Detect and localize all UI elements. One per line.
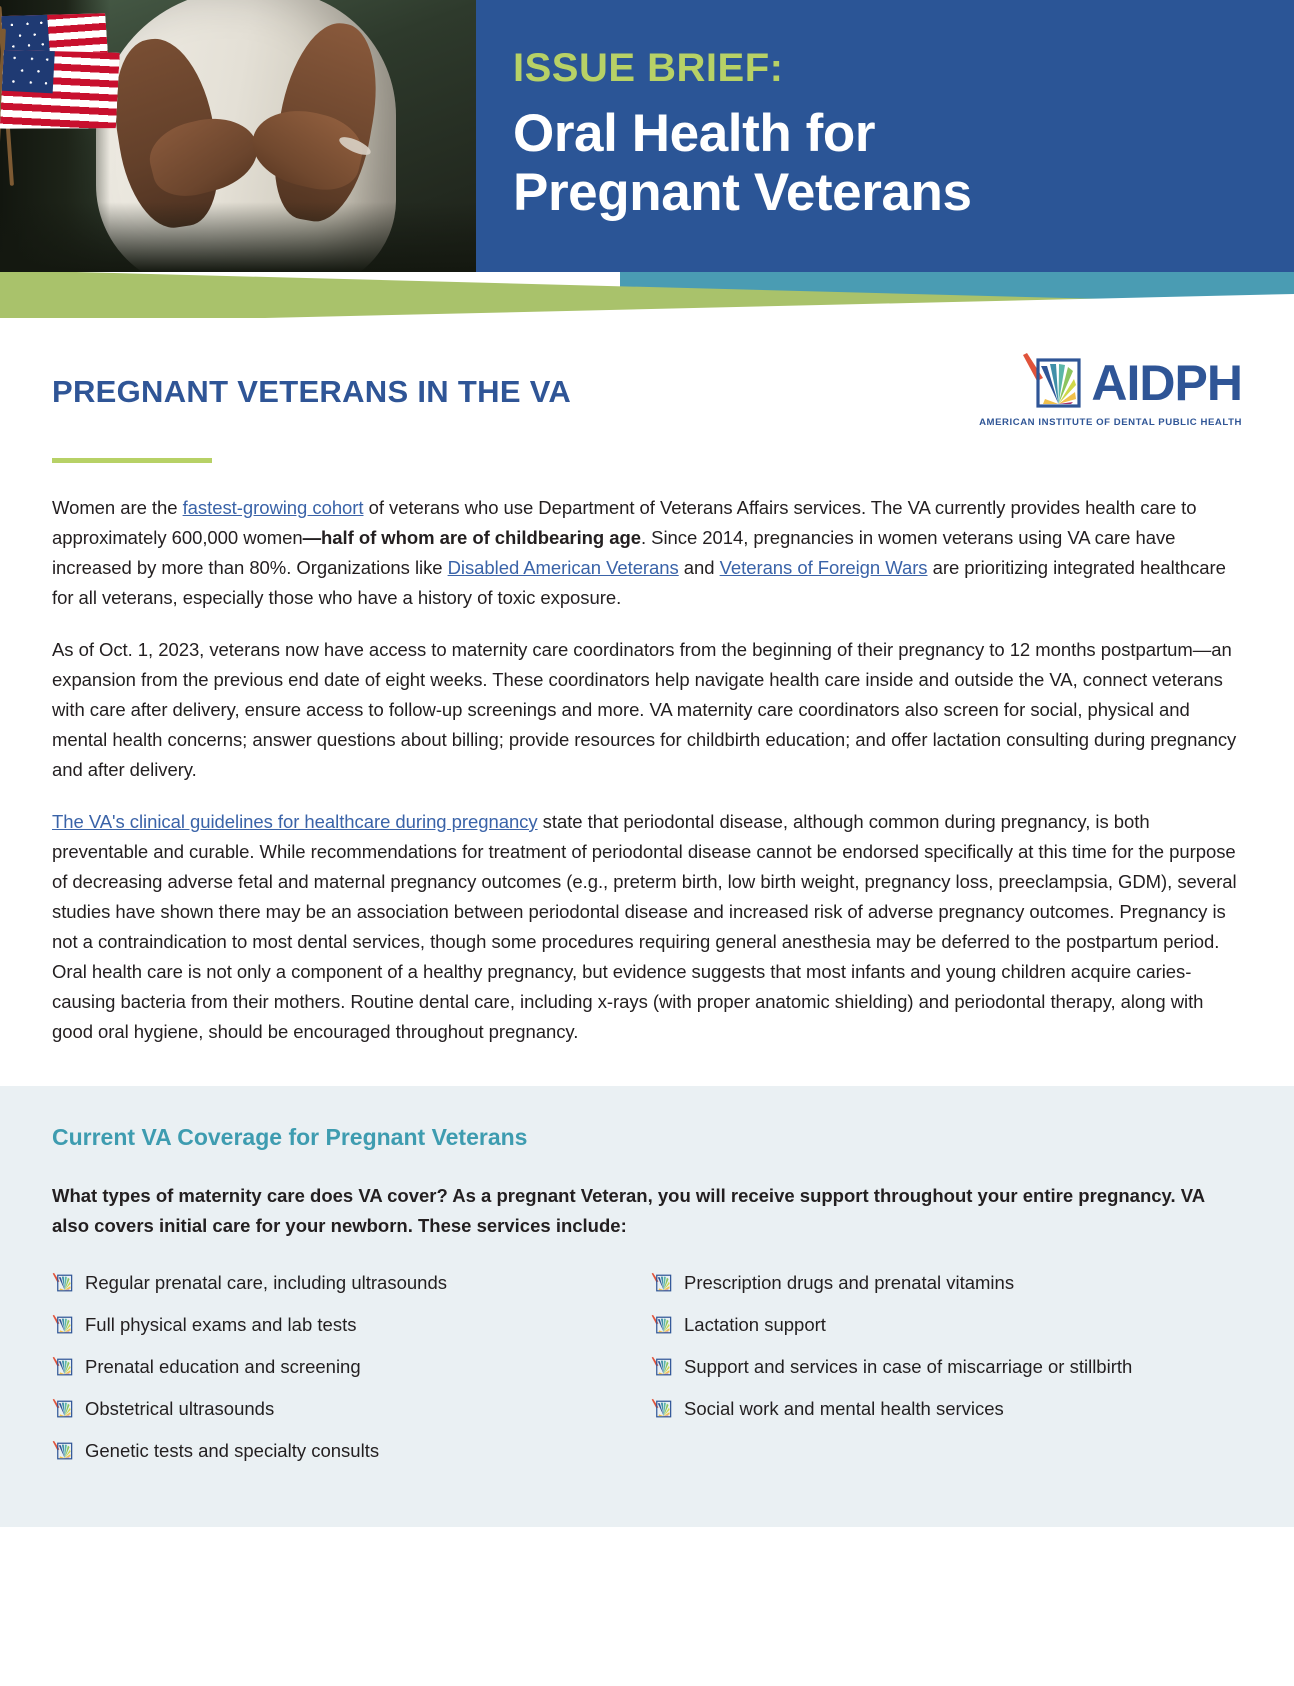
inline-text: Women are the — [52, 497, 183, 518]
aidph-mark-icon — [52, 1440, 73, 1465]
paragraph-2: As of Oct. 1, 2023, veterans now have ac… — [52, 635, 1242, 785]
coverage-panel-title: Current VA Coverage for Pregnant Veteran… — [52, 1124, 1242, 1151]
inline-bold: —half of whom are of childbearing age — [303, 527, 641, 548]
list-item-label: Prescription drugs and prenatal vitamins — [684, 1271, 1014, 1295]
aidph-tagline: AMERICAN INSTITUTE OF DENTAL PUBLIC HEAL… — [979, 417, 1242, 428]
aidph-mark-icon — [52, 1356, 73, 1381]
inline-link[interactable]: fastest-growing cohort — [183, 497, 364, 518]
aidph-logo: AIDPH AMERICAN INSTITUTE OF DENTAL PUBLI… — [979, 352, 1242, 428]
aidph-mark-icon — [1021, 352, 1083, 413]
list-item-label: Social work and mental health services — [684, 1397, 1004, 1421]
inline-text: and — [679, 557, 720, 578]
aidph-mark-icon — [52, 1398, 73, 1423]
header-photo — [0, 0, 476, 272]
list-item: Lactation support — [651, 1313, 1242, 1339]
paragraph-1: Women are the fastest-growing cohort of … — [52, 493, 1242, 613]
page-header: ISSUE BRIEF: Oral Health for Pregnant Ve… — [0, 0, 1294, 272]
list-item: Prenatal education and screening — [52, 1355, 643, 1381]
list-item: Social work and mental health services — [651, 1397, 1242, 1423]
usa-flag-front — [0, 28, 126, 225]
list-item: Prescription drugs and prenatal vitamins — [651, 1271, 1242, 1297]
list-item: Obstetrical ultrasounds — [52, 1397, 643, 1423]
aidph-mark-icon — [651, 1314, 672, 1339]
aidph-mark-icon — [651, 1398, 672, 1423]
aidph-mark-icon — [651, 1272, 672, 1297]
list-item-label: Full physical exams and lab tests — [85, 1313, 356, 1337]
inline-link[interactable]: The VA's clinical guidelines for healthc… — [52, 811, 538, 832]
inline-link[interactable]: Disabled American Veterans — [448, 557, 679, 578]
wave-divider — [0, 272, 1294, 320]
header-text-block: ISSUE BRIEF: Oral Health for Pregnant Ve… — [513, 48, 1253, 223]
page-section-title: PREGNANT VETERANS IN THE VA — [52, 374, 571, 410]
paragraph-3: The VA's clinical guidelines for healthc… — [52, 807, 1242, 1047]
section-header-row: PREGNANT VETERANS IN THE VA — [52, 320, 1242, 428]
list-item-label: Genetic tests and specialty consults — [85, 1439, 379, 1463]
aidph-logo-main: AIDPH — [1021, 352, 1242, 413]
list-item-label: Obstetrical ultrasounds — [85, 1397, 274, 1421]
green-rule — [52, 458, 212, 463]
coverage-panel-intro: What types of maternity care does VA cov… — [52, 1181, 1242, 1241]
body-paragraphs: Women are the fastest-growing cohort of … — [52, 493, 1242, 1046]
main-content: PREGNANT VETERANS IN THE VA — [0, 320, 1294, 1046]
inline-text: As of Oct. 1, 2023, veterans now have ac… — [52, 639, 1236, 780]
flag-cloth — [0, 47, 120, 135]
inline-link[interactable]: Veterans of Foreign Wars — [720, 557, 928, 578]
list-item: Full physical exams and lab tests — [52, 1313, 643, 1339]
list-item: Support and services in case of miscarri… — [651, 1355, 1242, 1381]
coverage-bullet-columns: Regular prenatal care, including ultraso… — [52, 1271, 1242, 1481]
list-item: Regular prenatal care, including ultraso… — [52, 1271, 643, 1297]
list-item: Genetic tests and specialty consults — [52, 1439, 643, 1465]
aidph-mark-icon — [52, 1272, 73, 1297]
list-item-label: Regular prenatal care, including ultraso… — [85, 1271, 447, 1295]
flag-stars — [2, 47, 55, 94]
page-title: Oral Health for Pregnant Veterans — [513, 104, 1253, 223]
aidph-mark-icon — [651, 1356, 672, 1381]
issue-brief-eyebrow: ISSUE BRIEF: — [513, 48, 1253, 88]
list-item-label: Prenatal education and screening — [85, 1355, 361, 1379]
coverage-bullets-right: Prescription drugs and prenatal vitamins… — [643, 1271, 1242, 1481]
page-title-line-1: Oral Health for — [513, 104, 1253, 163]
list-item-label: Lactation support — [684, 1313, 826, 1337]
coverage-bullets-left: Regular prenatal care, including ultraso… — [52, 1271, 643, 1481]
aidph-wordmark: AIDPH — [1091, 358, 1242, 408]
page-title-line-2: Pregnant Veterans — [513, 163, 1253, 222]
flag-canton — [2, 47, 55, 94]
inline-text: state that periodontal disease, although… — [52, 811, 1237, 1042]
list-item-label: Support and services in case of miscarri… — [684, 1355, 1132, 1379]
aidph-mark-icon — [52, 1314, 73, 1339]
coverage-panel: Current VA Coverage for Pregnant Veteran… — [0, 1086, 1294, 1527]
